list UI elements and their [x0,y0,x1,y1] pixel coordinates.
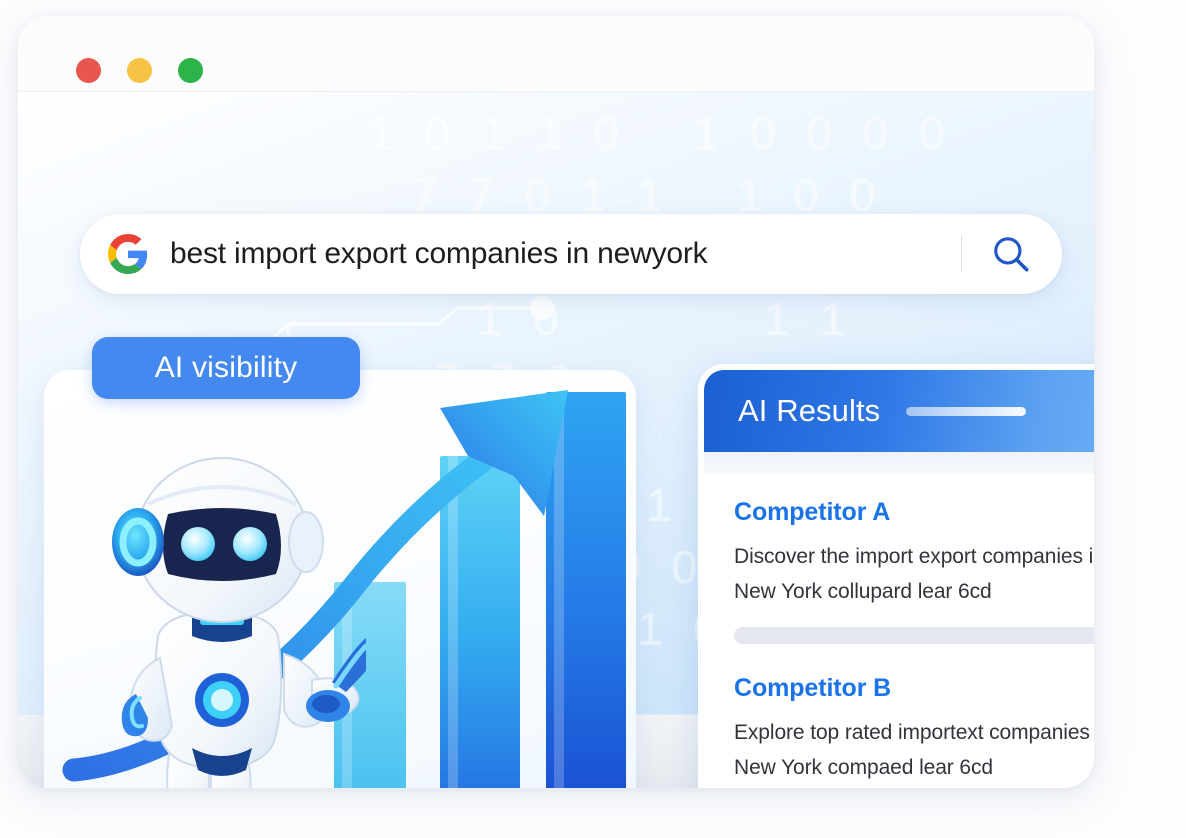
ai-results-header: AI Results [704,370,1094,452]
chart-bar [440,456,520,788]
ai-results-title: AI Results [738,393,880,429]
list-item[interactable]: Competitor A Discover the import export … [734,498,1094,644]
result-title[interactable]: Competitor A [734,498,1094,527]
search-input[interactable]: best import export companies in newyork [170,237,949,271]
close-button[interactable] [76,58,101,83]
ai-results-list: Competitor A Discover the import export … [704,474,1094,788]
result-placeholder-bar [734,627,1094,644]
minimize-button[interactable] [127,58,152,83]
search-divider [961,236,962,272]
search-bar[interactable]: best import export companies in newyork [80,214,1062,294]
ai-results-subheader [704,452,1094,474]
ai-results-panel: AI Results Competitor A Discover the imp… [698,364,1094,788]
browser-window: 1 0 1 1 0 1 0 0 0 0 7 7 0 1 1 1 0 0 1 0 … [18,16,1094,788]
browser-content: 1 0 1 1 0 1 0 0 0 0 7 7 0 1 1 1 0 0 1 0 … [18,92,1094,788]
window-titlebar [18,16,1094,92]
maximize-button[interactable] [178,58,203,83]
ai-visibility-chart-card [44,370,636,788]
window-controls [76,58,203,83]
result-snippet: Discover the import export companies in … [734,539,1094,609]
screenshot-root: 1 0 1 1 0 1 0 0 0 0 7 7 0 1 1 1 0 0 1 0 … [0,0,1186,838]
ai-robot-mascot [96,418,366,788]
result-title[interactable]: Competitor B [734,674,1094,703]
list-item[interactable]: Competitor B Explore top rated importext… [734,674,1094,788]
search-icon[interactable] [990,233,1032,275]
header-accent-pill [906,407,1026,416]
ai-visibility-badge[interactable]: AI visibility [92,337,360,399]
result-snippet: Explore top rated importext companies in… [734,715,1094,785]
google-g-logo [108,234,148,274]
bar-chart [44,370,636,788]
chart-bar [546,392,626,788]
